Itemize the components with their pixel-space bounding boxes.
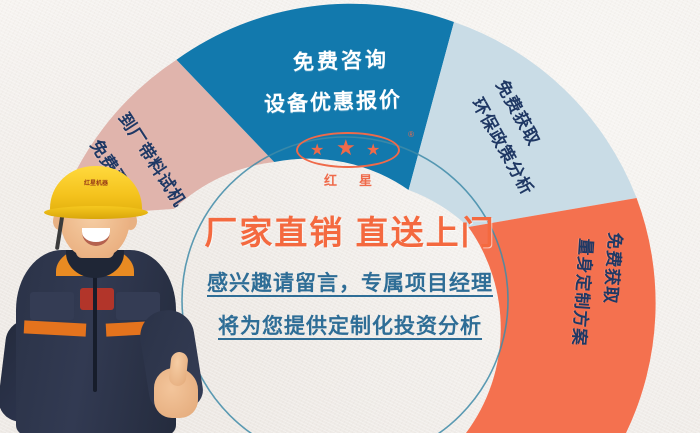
promo-banner: 免费预约 到厂带料试机 免费咨询 设备优惠报价 免费获取 环保政策分析 免费获取…: [0, 0, 700, 433]
logo-star-center: ★: [336, 138, 356, 158]
logo-brand-name: 红星: [296, 170, 400, 189]
hard-hat-brim: [44, 206, 148, 219]
headline-text: 厂家直销 直送上门: [150, 206, 550, 254]
registered-mark-icon: ®: [408, 130, 414, 139]
uniform-zipper: [93, 272, 97, 392]
center-content: ★ ★ ★ ® 红星 厂家直销 直送上门 感兴趣请留言，专属项目经理 将为您提供…: [150, 130, 550, 390]
uniform-logo-badge: [80, 288, 114, 310]
segment-orange-line1: 免费获取: [600, 232, 630, 306]
subline-1: 感兴趣请留言，专属项目经理: [150, 267, 550, 297]
segment-blue-line2: 设备优惠报价: [264, 84, 403, 119]
hard-hat-label: 红星机器: [68, 180, 124, 188]
segment-blue-line1: 免费咨询: [293, 43, 390, 76]
uniform-pocket-left: [30, 292, 74, 320]
brand-logo: ★ ★ ★ ® 红星: [288, 130, 412, 192]
worker-photo: 红星机器: [0, 170, 209, 433]
logo-star-right: ★: [366, 141, 380, 161]
logo-star-left: ★: [310, 141, 324, 161]
subline-2: 将为您提供定制化投资分析: [150, 310, 550, 340]
